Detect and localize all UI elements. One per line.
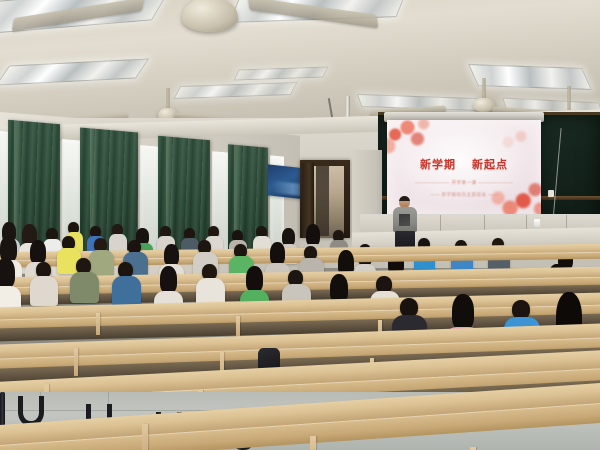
floral-decoration-icon	[497, 126, 537, 152]
fan-rod	[167, 88, 170, 110]
desk-divider	[142, 424, 148, 450]
ceiling-fan	[120, 0, 300, 48]
desk-divider	[96, 313, 100, 335]
slide-title-part1: 新学期	[420, 159, 456, 171]
fluorescent-light-panel	[233, 66, 328, 80]
screen-pull-handle[interactable]	[548, 190, 554, 197]
slide-title-part2: 新起点	[472, 159, 508, 171]
slide-subtitle-line1: ——————— 开学第一课 ———————	[387, 180, 541, 186]
slide-title: 新学期新起点	[387, 156, 541, 172]
fluorescent-light-panel	[0, 58, 149, 85]
floral-decoration-icon	[387, 120, 441, 160]
fan-rod	[483, 78, 486, 100]
presenter	[392, 196, 418, 250]
doorway-shadow	[316, 166, 329, 236]
fan-motor-icon	[182, 0, 238, 32]
paper-cup	[534, 219, 540, 227]
fan-rod	[568, 86, 571, 112]
desk-divider	[310, 436, 316, 450]
lecture-hall-photo: 新学期新起点 ——————— 开学第一课 ——————— —— 新学期动员主题班…	[0, 0, 600, 450]
shirt-graphic-print	[399, 214, 410, 226]
